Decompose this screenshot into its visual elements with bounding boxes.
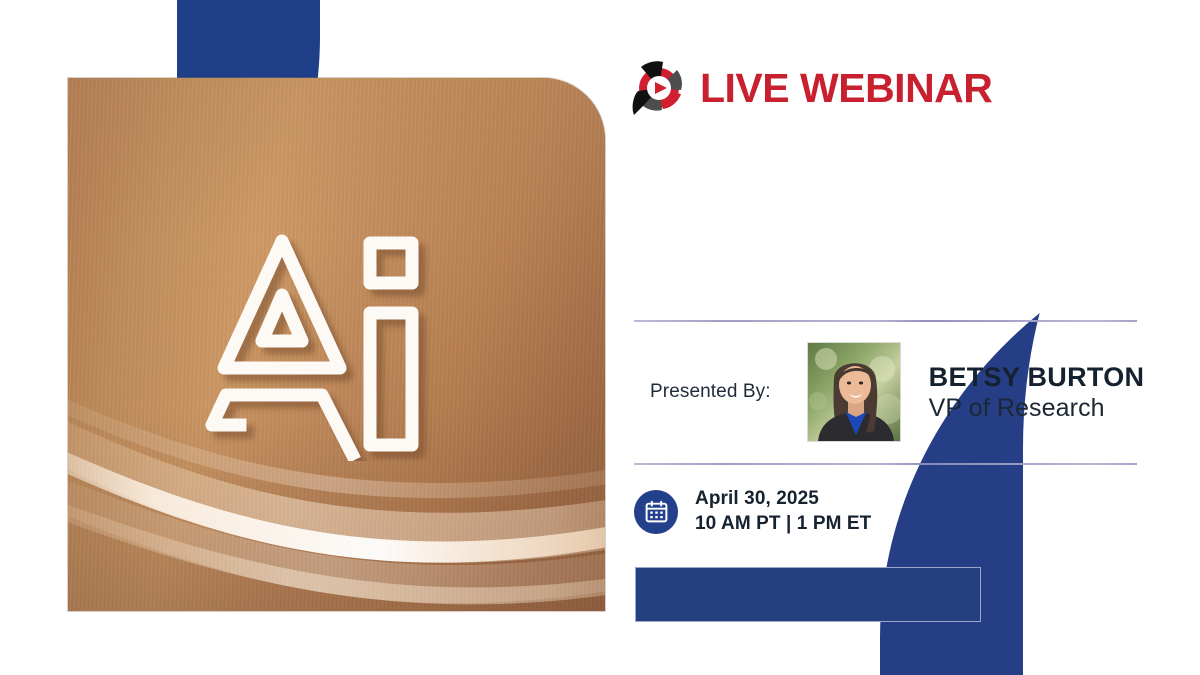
webinar-date: April 30, 2025: [695, 487, 871, 512]
schedule-text: April 30, 2025 10 AM PT | 1 PM ET: [695, 487, 871, 536]
presented-by-label: Presented By:: [650, 381, 771, 403]
presenter-row: Presented By:: [632, 336, 1144, 448]
live-play-donut-icon: [632, 58, 686, 118]
divider-top: [634, 320, 1137, 322]
hero-image-card: [68, 78, 605, 611]
presenter-identity: BETSY BURTON VP of Research: [929, 362, 1145, 422]
webinar-time: 10 AM PT | 1 PM ET: [695, 512, 871, 537]
live-webinar-label: LIVE WEBINAR: [700, 68, 992, 109]
presenter-avatar: [807, 342, 901, 442]
schedule-block: April 30, 2025 10 AM PT | 1 PM ET: [634, 487, 871, 536]
hero-ai-logo: [68, 78, 605, 611]
divider-bottom: [634, 463, 1137, 465]
live-webinar-brand: LIVE WEBINAR: [632, 58, 992, 118]
presenter-title: VP of Research: [929, 394, 1145, 422]
webinar-promo-slide: LIVE WEBINAR Presented By:: [0, 0, 1200, 675]
right-content-column: LIVE WEBINAR Presented By:: [632, 0, 1144, 675]
presenter-name: BETSY BURTON: [929, 362, 1145, 392]
cta-banner-bar[interactable]: [635, 567, 981, 622]
calendar-icon: [634, 490, 678, 534]
